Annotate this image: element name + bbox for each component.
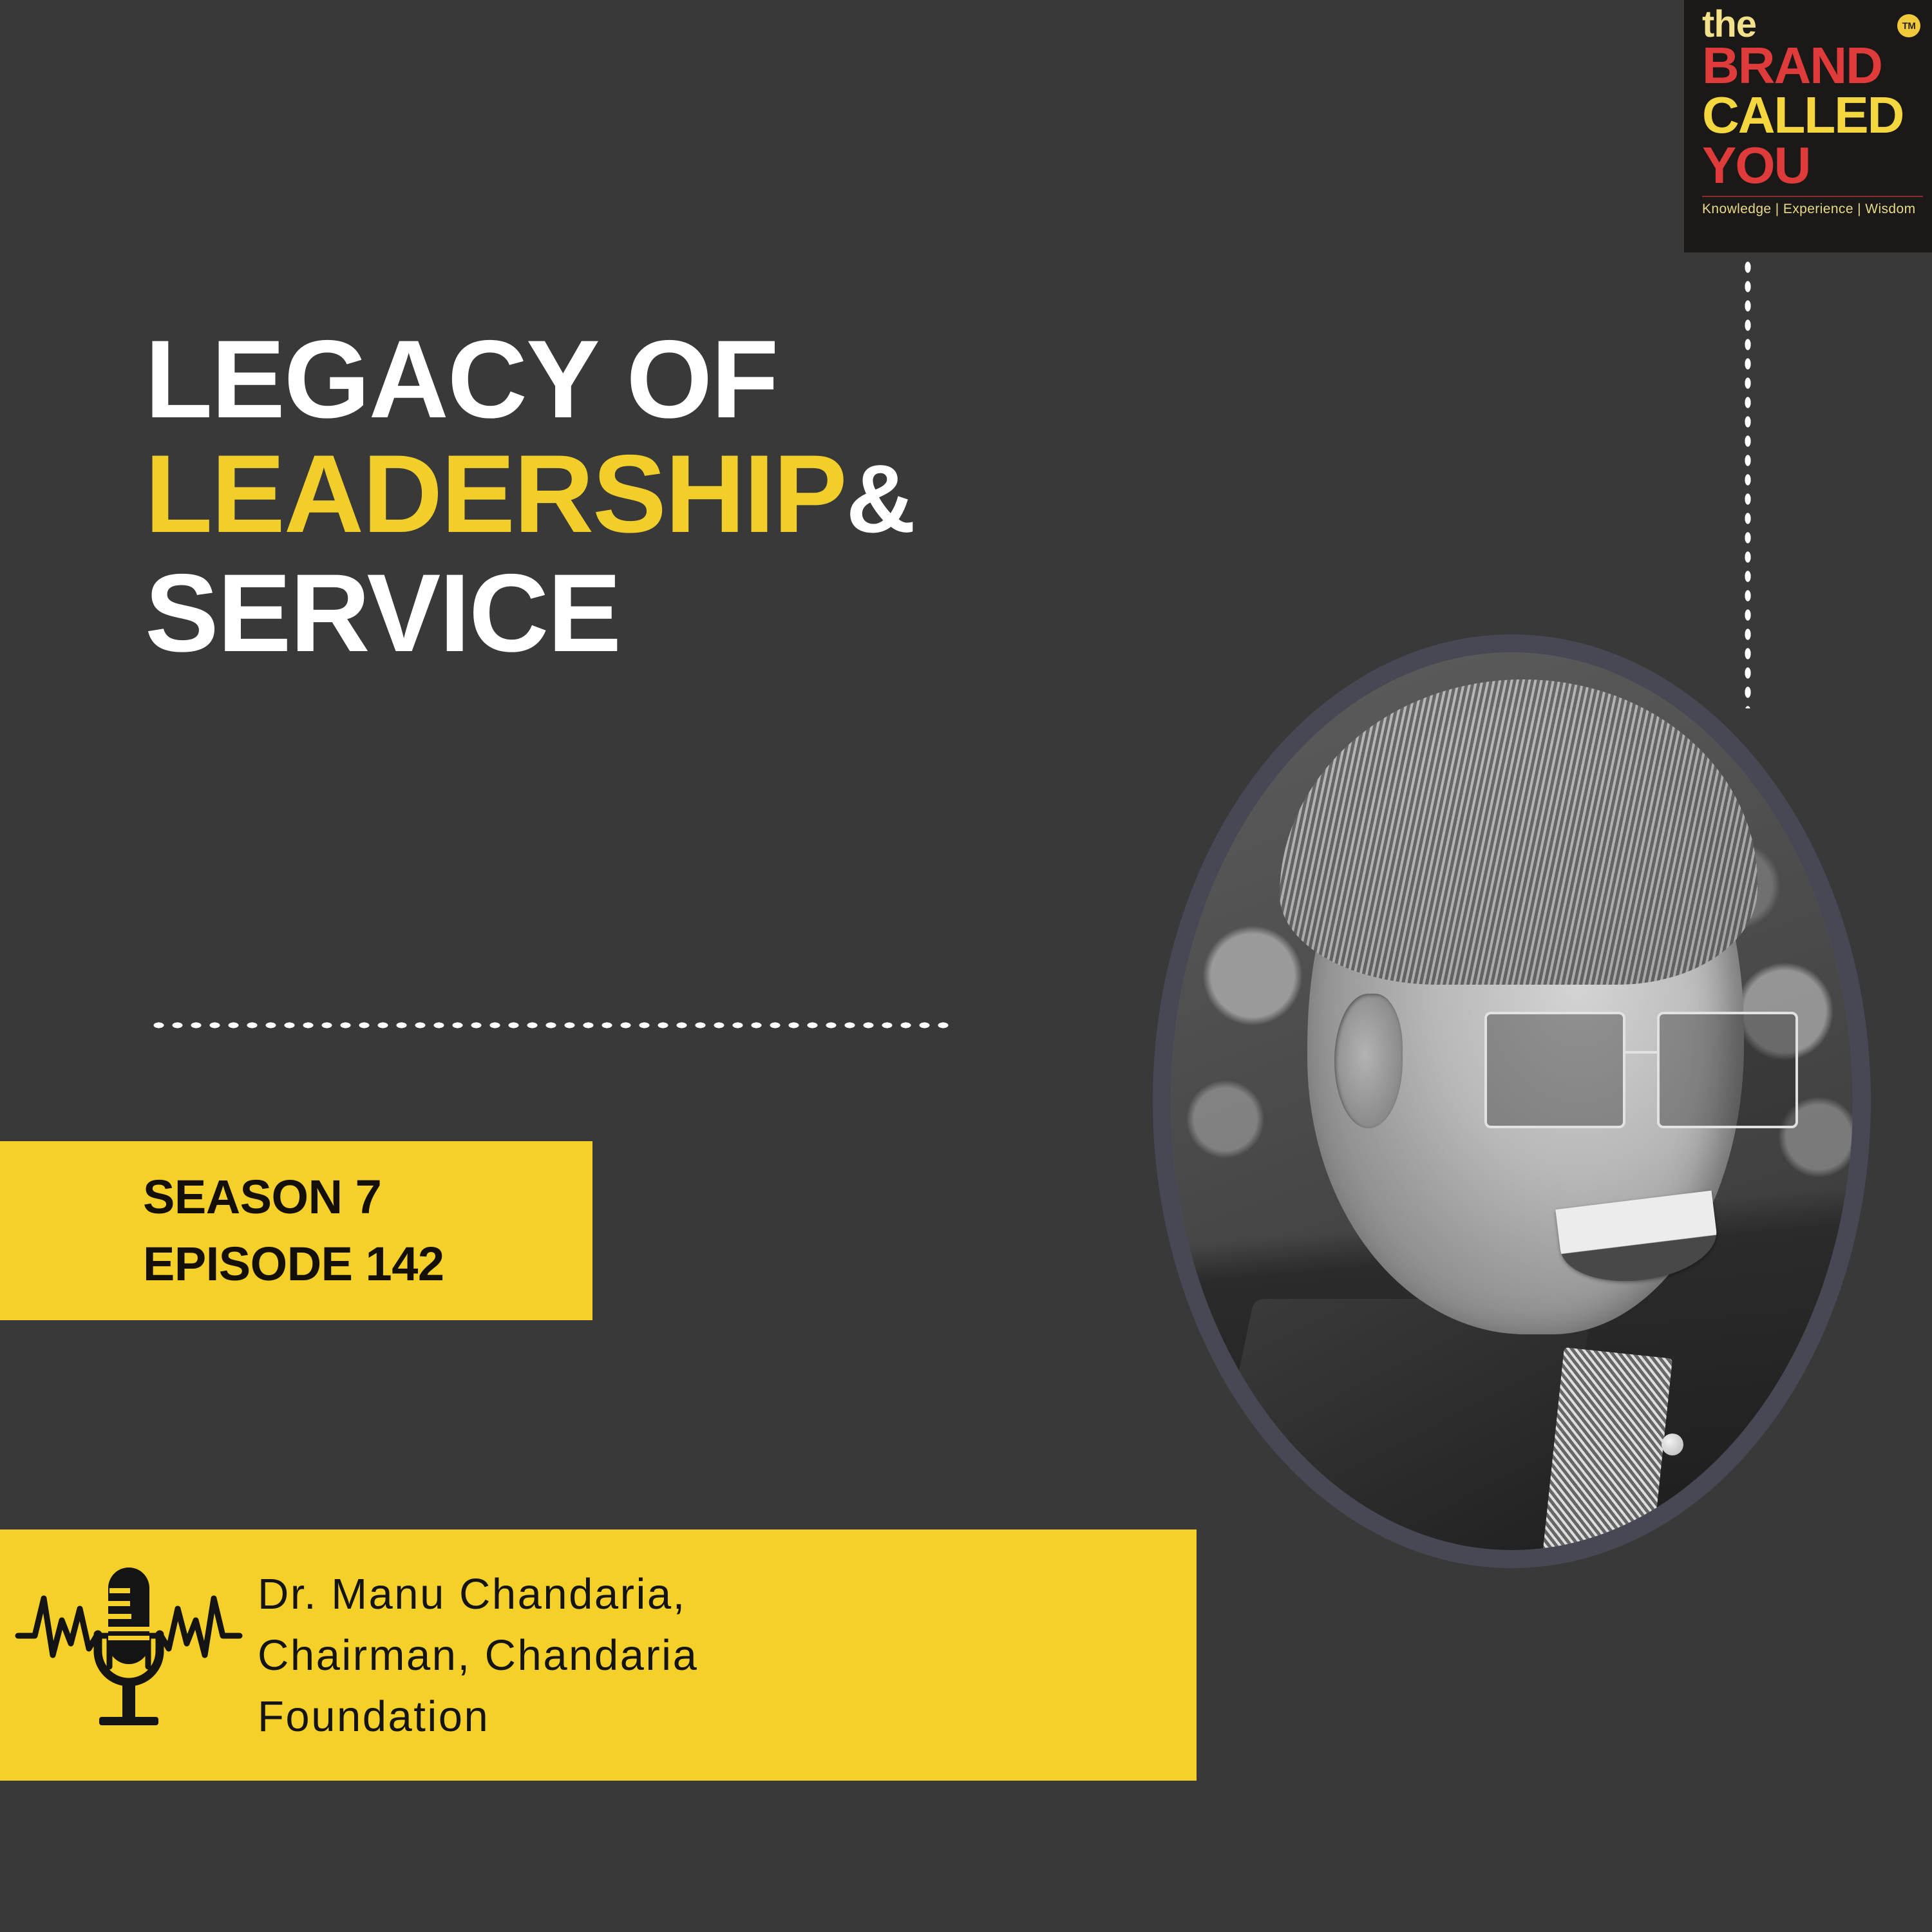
title-line-1: LEGACY OF (145, 322, 1278, 437)
portrait-hair (1280, 679, 1757, 985)
brand-logo-tagline: Knowledge | Experience | Wisdom (1702, 202, 1923, 217)
guest-name-line-2: Chairman, Chandaria (258, 1625, 698, 1686)
title-line-2: LEADERSHIP& (145, 437, 1278, 556)
brand-logo-called: CALLED (1702, 90, 1923, 140)
page-title: LEGACY OF LEADERSHIP& SERVICE (145, 322, 1278, 670)
guest-name-line-1: Dr. Manu Chandaria, (258, 1564, 698, 1625)
portrait-suit-lapel (1197, 1299, 1595, 1550)
podcast-cover-art: TM the BRAND CALLED YOU Knowledge | Expe… (0, 0, 1932, 1932)
season-label: SEASON 7 (143, 1164, 592, 1231)
portrait-tie (1542, 1347, 1672, 1550)
guest-name-line-3: Foundation (258, 1686, 698, 1747)
guest-name-bar: Dr. Manu Chandaria, Chairman, Chandaria … (0, 1529, 1197, 1781)
portrait-photo (1171, 652, 1853, 1550)
guest-portrait (1153, 634, 1871, 1568)
portrait-ear (1334, 994, 1403, 1128)
brand-logo-you: YOU (1702, 140, 1923, 191)
brand-logo-brand: BRAND (1702, 41, 1923, 90)
episode-label: EPISODE 142 (143, 1231, 592, 1298)
brand-logo[interactable]: TM the BRAND CALLED YOU Knowledge | Expe… (1684, 0, 1932, 252)
brand-logo-divider (1702, 196, 1923, 197)
guest-name: Dr. Manu Chandaria, Chairman, Chandaria … (258, 1564, 724, 1747)
portrait-glasses-bridge (1625, 1051, 1657, 1054)
portrait-lapel-pin (1662, 1434, 1683, 1455)
microphone-waveform-icon (0, 1549, 258, 1761)
portrait-lens-left (1484, 1012, 1625, 1128)
brand-logo-inner: the BRAND CALLED YOU Knowledge | Experie… (1702, 5, 1923, 217)
title-line-2-accent: LEADERSHIP (145, 432, 846, 556)
title-ampersand: & (846, 444, 914, 553)
portrait-lens-right (1657, 1012, 1798, 1128)
horizontal-dotted-line (149, 1020, 954, 1030)
portrait-photo-frame (1171, 652, 1853, 1550)
episode-badge: SEASON 7 EPISODE 142 (0, 1141, 592, 1320)
title-line-3: SERVICE (145, 556, 1278, 670)
portrait-glasses (1484, 1012, 1798, 1128)
